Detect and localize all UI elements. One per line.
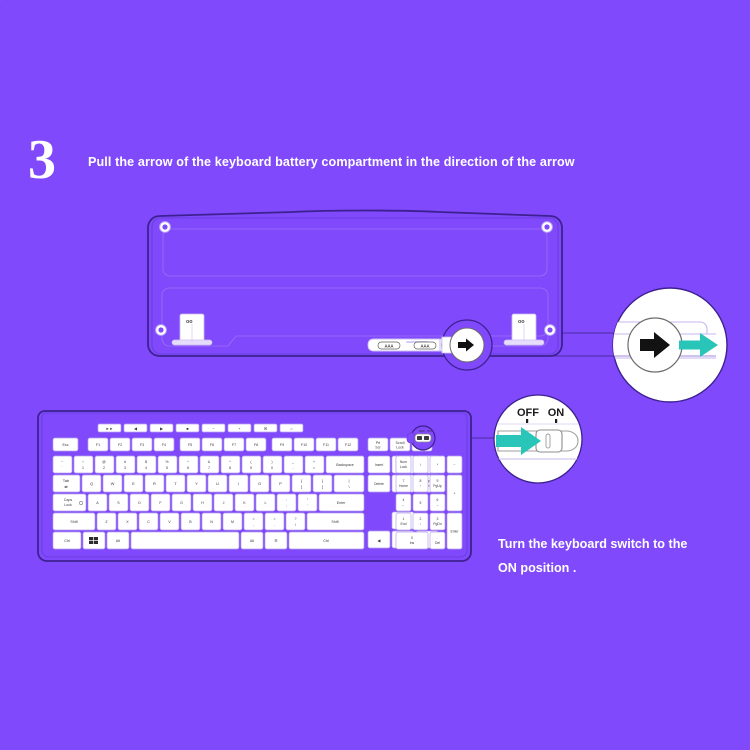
svg-text:U: U: [216, 481, 219, 486]
battery-cell-label: AAA: [414, 342, 436, 349]
numpad-key-label: End: [400, 522, 406, 526]
svg-text:O: O: [258, 481, 261, 486]
svg-text:Ctrl: Ctrl: [64, 539, 70, 543]
svg-text:M: M: [231, 520, 234, 524]
svg-text:F3: F3: [140, 443, 144, 447]
svg-text:1: 1: [82, 466, 84, 470]
svg-text:#: #: [124, 460, 126, 464]
svg-text:7: 7: [208, 466, 210, 470]
svg-text:<: <: [252, 517, 254, 521]
numpad-key-label: Enter: [450, 530, 459, 534]
svg-text:Alt: Alt: [250, 539, 254, 543]
svg-text:/: /: [295, 523, 296, 527]
svg-text:R: R: [153, 481, 156, 486]
windows-key-icon[interactable]: [89, 537, 98, 544]
svg-text:F12: F12: [345, 443, 351, 447]
screw-icon: [160, 222, 171, 233]
svg-text:.: .: [274, 523, 275, 527]
numpad-key-label: /: [420, 463, 421, 467]
numpad-key-label: 2: [420, 517, 422, 521]
svg-text:!: !: [83, 460, 84, 464]
svg-text:E: E: [132, 481, 135, 486]
svg-text:Q: Q: [90, 481, 93, 486]
numpad-key-label: PgUp: [433, 484, 442, 488]
numpad-key-label: Home: [399, 484, 408, 488]
numpad-key-label: Del: [435, 541, 440, 545]
battery-cell-label: AAA: [378, 342, 400, 349]
svg-text:AAA: AAA: [420, 343, 429, 348]
numpad-key-label: 6: [437, 498, 439, 502]
svg-text:F8: F8: [254, 443, 258, 447]
keyboard-switch-off-label: OFF: [419, 429, 425, 433]
svg-text:`: `: [61, 466, 62, 470]
numpad-key-label: ↑: [420, 484, 422, 488]
svg-text:0: 0: [271, 466, 273, 470]
screw-icon: [156, 325, 167, 336]
svg-text:oo: oo: [186, 319, 193, 325]
svg-text:Alt: Alt: [116, 539, 120, 543]
svg-text:F1: F1: [96, 443, 100, 447]
svg-text:Y: Y: [195, 481, 198, 486]
svg-text:Enter: Enter: [337, 501, 346, 505]
svg-text:F10: F10: [301, 443, 307, 447]
numpad-key-label: ←: [402, 503, 405, 507]
svg-text:9: 9: [250, 466, 252, 470]
svg-text:Backspace: Backspace: [336, 463, 354, 467]
svg-text:F11: F11: [323, 443, 329, 447]
screw-icon: [542, 222, 553, 233]
keyboard-number-row[interactable]: [53, 456, 364, 473]
numpad-key-label: 1: [403, 517, 405, 521]
svg-text:F5: F5: [188, 443, 192, 447]
svg-text:Delete: Delete: [374, 482, 384, 486]
svg-text:Insert: Insert: [375, 463, 384, 467]
svg-text:Tab: Tab: [63, 478, 70, 483]
svg-text:F2: F2: [118, 443, 122, 447]
keyboard-switch-on-label: ON: [427, 429, 432, 433]
power-switch-magnifier: OFF ON: [494, 395, 582, 483]
svg-text:F9: F9: [280, 443, 284, 447]
svg-text:G: G: [180, 501, 183, 505]
svg-text:): ): [271, 460, 272, 464]
numpad-key-label: 5: [420, 501, 422, 505]
svg-text:Caps: Caps: [64, 498, 73, 502]
svg-text:H: H: [201, 501, 204, 505]
svg-text:Ctrl: Ctrl: [323, 539, 329, 543]
svg-text:;: ;: [286, 504, 287, 508]
svg-text:|: |: [348, 478, 349, 483]
svg-text:F4: F4: [162, 443, 166, 447]
svg-text::: :: [286, 498, 287, 502]
svg-text:Scroll: Scroll: [396, 441, 405, 445]
screw-icon: [545, 325, 556, 336]
svg-text:AAA: AAA: [384, 343, 393, 348]
numpad-key-label: PgDn: [433, 522, 442, 526]
keyboard-home-row[interactable]: [53, 494, 364, 511]
svg-text:⌂: ⌂: [290, 427, 292, 431]
keyboard-underside-panel: oo oo AAA AAA: [148, 211, 562, 371]
svg-text:N: N: [210, 520, 213, 524]
numpad-key-label: 4: [403, 498, 405, 502]
numpad-key-label: −: [454, 463, 456, 467]
svg-text:W: W: [111, 481, 115, 486]
svg-text:C: C: [147, 520, 150, 524]
numpad-key-label: 8: [420, 479, 422, 483]
battery-door-arrow-closeup: [442, 320, 492, 370]
svg-text:oo: oo: [518, 319, 525, 325]
svg-text:Shift: Shift: [70, 520, 77, 524]
svg-text:L: L: [265, 501, 267, 505]
svg-text:]: ]: [322, 484, 323, 489]
keyboard-shift-row[interactable]: [53, 513, 364, 530]
svg-text:D: D: [138, 501, 141, 505]
svg-text:5: 5: [166, 466, 168, 470]
numpad-key-label: 9: [437, 479, 439, 483]
numpad-key-label: 0: [411, 536, 413, 540]
svg-text:~: ~: [61, 460, 63, 464]
svg-text:F6: F6: [210, 443, 214, 447]
numpad-key-label: .: [437, 536, 438, 540]
svg-text:P: P: [279, 481, 282, 486]
numpad-key-label: 7: [403, 479, 405, 483]
svg-text:Lock: Lock: [396, 446, 404, 450]
svg-text:$: $: [145, 460, 147, 464]
svg-text:=: =: [313, 466, 315, 470]
svg-text:Scr: Scr: [375, 446, 381, 450]
numpad-key-label: 3: [437, 517, 439, 521]
svg-text:3: 3: [124, 466, 126, 470]
svg-text:>: >: [273, 517, 275, 521]
svg-text:F7: F7: [232, 443, 236, 447]
switch-label-on: ON: [548, 407, 565, 419]
svg-text:Lock: Lock: [64, 503, 72, 507]
numpad-key-label: ↓: [420, 522, 422, 526]
svg-text:+: +: [313, 460, 315, 464]
svg-text:J: J: [223, 501, 225, 505]
svg-text:,: ,: [253, 523, 254, 527]
svg-text:I: I: [238, 481, 239, 486]
keyboard-qwerty-row[interactable]: [53, 475, 364, 492]
svg-text:?: ?: [295, 517, 297, 521]
svg-text:Shift: Shift: [331, 520, 338, 524]
svg-text:4: 4: [145, 466, 147, 470]
battery-door-magnifier: [596, 288, 727, 402]
keyboard-space-row[interactable]: [53, 532, 364, 549]
numpad-key-label: +: [454, 492, 456, 496]
numpad-key-label: Num: [400, 460, 407, 464]
numpad-key-label: Ins: [410, 541, 415, 545]
svg-text:2: 2: [103, 466, 105, 470]
numpad-key-label: Lock: [400, 465, 407, 469]
svg-text:8: 8: [229, 466, 231, 470]
svg-text:Prt: Prt: [376, 441, 381, 445]
numpad-key-label: →: [436, 503, 439, 507]
svg-text:@: @: [102, 460, 106, 464]
svg-text:Esc: Esc: [63, 443, 69, 447]
switch-label-off: OFF: [517, 407, 539, 419]
svg-text:►►: ►►: [106, 427, 114, 431]
svg-text:6: 6: [187, 466, 189, 470]
